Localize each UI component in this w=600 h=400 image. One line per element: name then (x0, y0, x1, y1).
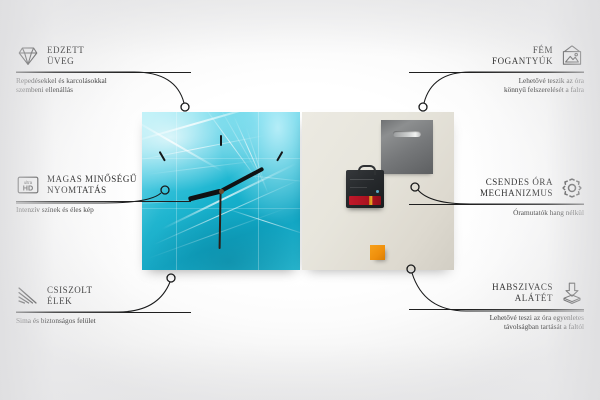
clock-mechanism (346, 170, 384, 208)
callout-description: Intenzív színek és éles kép (16, 205, 191, 214)
callout-description: Lehetővé teszi az óra egyenletes távolsá… (409, 313, 584, 332)
callout-description: Lehetővé teszik az óra könnyű felszerelé… (409, 76, 584, 95)
callout-divider (409, 72, 584, 73)
callout-title: CSENDES ÓRA MECHANIZMUS (480, 177, 553, 200)
callout-polished-edges: CSISZOLT ÉLEK Sima és biztonságos felüle… (16, 284, 191, 325)
picture-hanger-icon (560, 44, 584, 68)
metal-hanger (381, 120, 433, 174)
clock-minute-hand (220, 167, 264, 193)
hanger-slot (393, 131, 421, 137)
callout-high-quality-print: ultra HD MAGAS MINŐSÉGŰ NYOMTATÁS Intenz… (16, 173, 191, 214)
callout-title: MAGAS MINŐSÉGŰ NYOMTATÁS (47, 174, 137, 197)
callout-description: Óramutatók hang nélkül (409, 208, 584, 217)
down-arrow-pad-icon (560, 281, 584, 305)
callout-description: Sima és biztonságos felület (16, 316, 191, 325)
clock-center-cap (219, 189, 224, 194)
mechanism-detail-line (350, 179, 374, 180)
callout-title: CSISZOLT ÉLEK (47, 285, 93, 308)
callout-description: Repedésekkel és karcolásokkal szembeni e… (16, 76, 191, 95)
foam-pad (370, 245, 385, 260)
callout-metal-handles: FÉM FOGANTYÚK Lehetővé teszik az óra kön… (409, 44, 584, 95)
callout-title: EDZETT ÜVEG (47, 45, 84, 68)
infographic-canvas: EDZETT ÜVEG Repedésekkel és karcolásokka… (0, 0, 600, 400)
callout-silent-mechanism: CSENDES ÓRA MECHANIZMUS Óramutatók hang … (409, 176, 584, 217)
polished-edge-icon (16, 284, 40, 308)
battery-compartment-label (349, 196, 381, 205)
callout-tempered-glass: EDZETT ÜVEG Repedésekkel és karcolásokka… (16, 44, 191, 95)
diamond-icon (16, 44, 40, 68)
mechanism-hook (358, 165, 376, 175)
callout-title: FÉM FOGANTYÚK (492, 45, 553, 68)
gear-icon (560, 176, 584, 200)
mechanism-detail-line (350, 187, 367, 188)
callout-divider (16, 201, 191, 202)
callout-divider (16, 312, 191, 313)
callout-divider (409, 309, 584, 310)
ultra-hd-icon: ultra HD (16, 173, 40, 197)
callout-foam-pad: HABSZIVACS ALÁTÉT Lehetővé teszi az óra … (409, 281, 584, 332)
mechanism-indicator (376, 190, 379, 193)
callout-title: HABSZIVACS ALÁTÉT (492, 282, 553, 305)
callout-divider (409, 204, 584, 205)
callout-divider (16, 72, 191, 73)
svg-text:HD: HD (23, 184, 33, 193)
clock-second-hand (219, 191, 222, 249)
clock-hour-hand (187, 189, 221, 202)
